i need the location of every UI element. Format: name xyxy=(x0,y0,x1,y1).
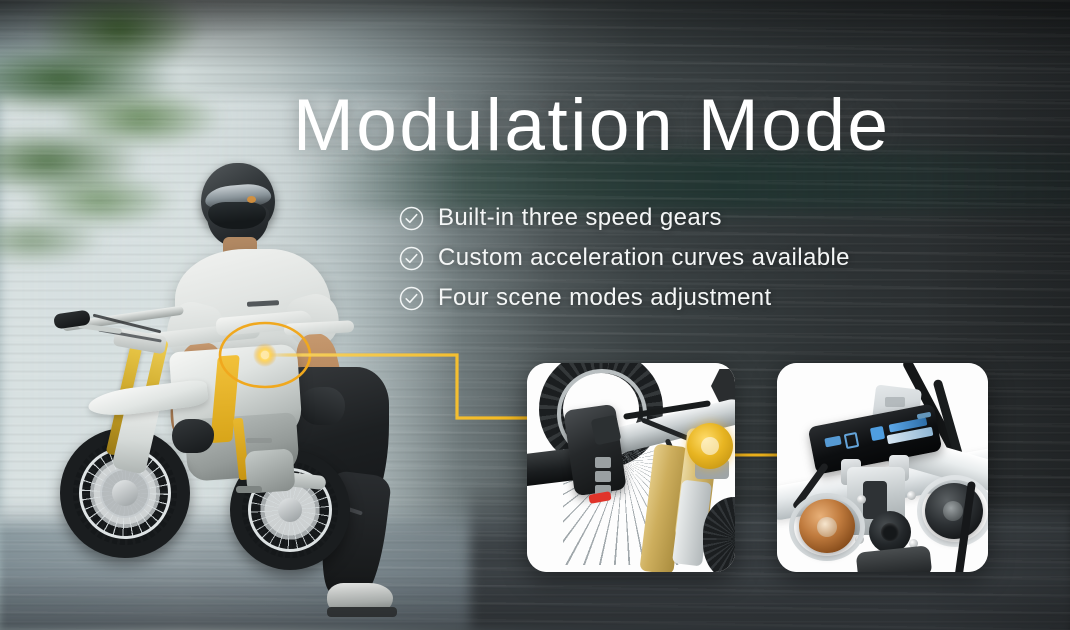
switch-clamp xyxy=(591,415,622,446)
fork-cap-center xyxy=(701,437,719,455)
list-item-label: Built-in three speed gears xyxy=(438,204,722,232)
list-item-label: Custom acceleration curves available xyxy=(438,244,850,272)
feature-list: Built-in three speed gears Custom accele… xyxy=(399,198,850,318)
display-segment xyxy=(844,432,860,449)
bolt xyxy=(857,495,866,504)
list-item: Built-in three speed gears xyxy=(399,198,850,238)
copper-connector-core xyxy=(817,517,837,537)
check-circle-icon xyxy=(399,286,424,311)
dashboard-display-detail-photo xyxy=(777,363,988,572)
list-item-label: Four scene modes adjustment xyxy=(438,284,772,312)
modulation-mode-slide: Modulation Mode Built-in three speed gea… xyxy=(0,0,1070,630)
check-circle-icon xyxy=(399,206,424,231)
mode-button xyxy=(595,457,611,468)
list-item: Custom acceleration curves available xyxy=(399,238,850,278)
page-title: Modulation Mode xyxy=(293,84,891,167)
plate-marking xyxy=(885,397,905,407)
list-item: Four scene modes adjustment xyxy=(399,278,850,318)
center-connector-core xyxy=(881,523,899,541)
bolt xyxy=(907,491,916,500)
right-connector-core xyxy=(943,501,963,521)
mode-button xyxy=(595,471,611,482)
handlebar-throttle-detail-photo xyxy=(527,363,735,572)
lower-grip xyxy=(856,545,933,572)
display-segment xyxy=(870,426,885,441)
check-circle-icon xyxy=(399,246,424,271)
frame-bracket xyxy=(711,369,735,403)
